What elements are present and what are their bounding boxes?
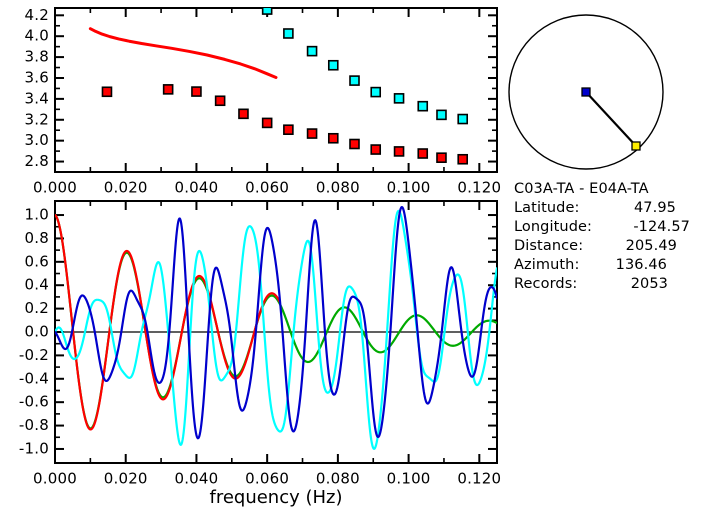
x-tick-label: 0.060 [245,179,289,197]
y-tick-label: -0.6 [19,393,49,411]
center-station-marker [582,88,590,96]
distance-value: 205.49 [626,238,677,254]
y-tick-label: 0.2 [25,299,49,317]
longitude-label: Longitude: [514,219,592,235]
y-tick-label: -0.8 [19,416,49,434]
dispersion-panel: 0.0000.0200.0400.0600.0800.1000.1202.83.… [25,5,502,196]
x-tick-label: 0.100 [387,470,431,488]
y-tick-label: -0.2 [19,346,49,364]
map-inset [509,15,663,169]
longitude-value: -124.57 [633,219,690,235]
data-marker [437,110,446,119]
x-tick-label: 0.020 [104,470,148,488]
data-marker [192,87,201,96]
data-marker [329,61,338,70]
phase-velocity-cyan-squares [263,5,468,123]
y-tick-label: 4.0 [25,27,49,45]
y-tick-label: 3.0 [25,131,49,149]
data-marker [458,155,467,164]
latitude-value: 47.95 [634,200,676,216]
data-marker [239,109,248,118]
data-marker [329,134,338,143]
data-marker [395,147,404,156]
data-marker [263,5,272,14]
latitude-label: Latitude: [514,200,579,216]
data-marker [308,47,317,56]
distance-label: Distance: [514,238,583,254]
y-tick-label: -0.4 [19,369,49,387]
data-marker [308,129,317,138]
y-tick-label: 3.8 [25,48,49,66]
remote-station-marker [632,142,640,150]
records-value: 2053 [631,276,668,292]
x-tick-label: 0.040 [174,470,218,488]
data-marker [350,76,359,85]
dispersion-tick-labels: 0.0000.0200.0400.0600.0800.1000.1202.83.… [25,6,502,197]
x-tick-label: 0.040 [174,179,218,197]
x-tick-label: 0.120 [457,179,501,197]
data-marker [418,149,427,158]
y-tick-label: 0.8 [25,229,49,247]
waveform-series [55,207,497,449]
seismic-dispersion-figure: 0.0000.0200.0400.0600.0800.1000.1202.83.… [0,0,702,519]
y-tick-label: 4.2 [25,6,49,24]
x-axis-title: frequency (Hz) [209,487,342,508]
plot-frame [55,8,497,172]
y-tick-label: 3.6 [25,68,49,86]
y-tick-label: 0.4 [25,276,49,294]
data-marker [102,87,111,96]
x-tick-label: 0.000 [33,470,77,488]
data-marker [458,115,467,124]
model-curve-red-line [90,29,276,78]
x-tick-label: 0.080 [316,470,360,488]
blue-observed-waveform [55,207,497,438]
data-marker [284,125,293,134]
group-velocity-red-squares [102,85,467,164]
station-path-line [586,92,636,146]
waveform-tick-labels: 0.0000.0200.0400.0600.0800.1000.120-1.0-… [19,206,501,488]
y-tick-label: 0.0 [25,323,49,341]
x-tick-label: 0.100 [387,179,431,197]
y-tick-label: 3.2 [25,110,49,128]
data-marker [350,140,359,149]
y-tick-label: 1.0 [25,206,49,224]
station-info-block: C03A-TA - E04A-TA Latitude: 47.95 Longit… [514,181,690,292]
data-marker [284,29,293,38]
dispersion-data-layer [90,5,467,164]
x-tick-label: 0.020 [104,179,148,197]
station-pair-title: C03A-TA - E04A-TA [514,181,649,197]
dispersion-series [90,5,467,164]
y-tick-label: -1.0 [19,439,49,457]
azimuth-value: 136.46 [616,257,667,273]
data-marker [395,94,404,103]
x-tick-label: 0.080 [316,179,360,197]
figure-root: 0.0000.0200.0400.0600.0800.1000.1202.83.… [0,0,702,519]
x-tick-label: 0.120 [457,470,501,488]
data-marker [263,118,272,127]
data-marker [437,153,446,162]
data-marker [216,96,225,105]
data-marker [164,85,173,94]
data-marker [371,145,380,154]
waveform-data-layer [55,207,497,449]
y-tick-label: 0.6 [25,252,49,270]
records-label: Records: [514,276,577,292]
data-marker [418,102,427,111]
waveform-panel: 0.0000.0200.0400.0600.0800.1000.120-1.0-… [19,201,501,508]
dispersion-axes [55,8,497,172]
x-tick-label: 0.060 [245,470,289,488]
y-tick-label: 3.4 [25,89,49,107]
azimuth-label: Azimuth: [514,257,579,273]
x-tick-label: 0.000 [33,179,77,197]
y-tick-label: 2.8 [25,152,49,170]
data-marker [371,88,380,97]
